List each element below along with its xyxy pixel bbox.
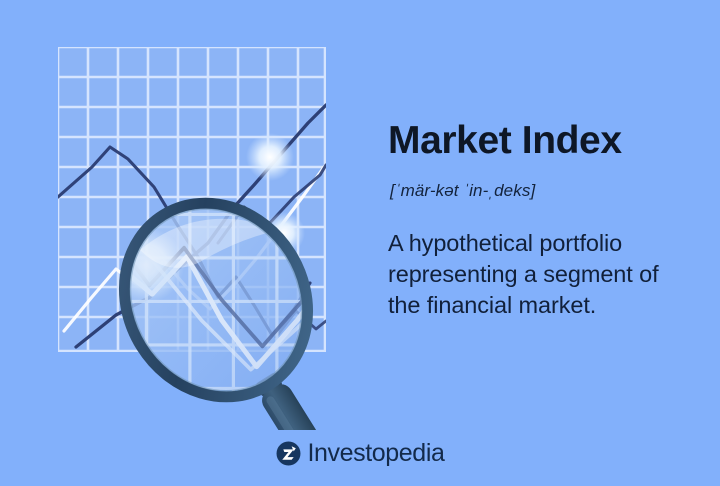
definition-text: A hypothetical portfolio representing a … — [388, 228, 688, 321]
brand-footer: Investopedia — [0, 441, 720, 466]
data-point-glow-icon — [246, 133, 294, 181]
phonetic-transcription: [ˈmär-kət ˈin-ˌdeks] — [390, 180, 688, 202]
definition-card: Market Index [ˈmär-kət ˈin-ˌdeks] A hypo… — [0, 0, 720, 486]
market-index-magnifier-chart-illustration — [0, 0, 372, 430]
brand-name: Investopedia — [308, 441, 445, 466]
investopedia-z-mark-icon — [276, 441, 301, 466]
definition-text-block: Market Index [ˈmär-kət ˈin-ˌdeks] A hypo… — [388, 118, 688, 321]
page-title: Market Index — [388, 118, 688, 164]
